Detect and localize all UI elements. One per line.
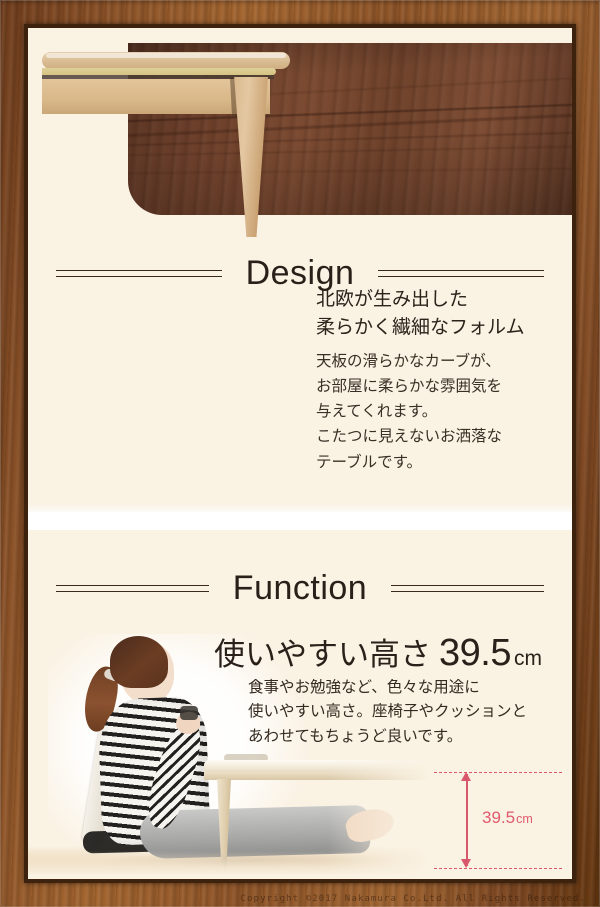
section-white-divider	[28, 512, 572, 530]
copyright-text: Copyright ©2017 Nakamura Co.Ltd. All Rig…	[0, 894, 600, 904]
design-copy-block: 北欧が生み出した 柔らかく繊細なフォルム 天板の滑らかなカーブが、 お部屋に柔ら…	[316, 286, 566, 475]
function-body-text: 食事やお勉強など、色々な用途に 使いやすい高さ。座椅子やクッションと あわせても…	[248, 676, 568, 749]
product-detail-page: 北欧が生み出した 柔らかく繊細なフォルム 天板の滑らかなカーブが、 お部屋に柔ら…	[0, 0, 600, 907]
divider-rule-left	[56, 585, 209, 592]
divider-rule-right	[378, 270, 544, 277]
dimension-guide-bottom	[434, 868, 562, 869]
table-edge-band	[42, 68, 276, 75]
dimension-unit: cm	[516, 812, 533, 826]
dimension-label: 39.5cm	[482, 808, 533, 828]
dimension-value: 39.5	[482, 808, 515, 827]
dimension-arrow-up-icon	[461, 772, 471, 781]
function-section-heading: Function	[28, 571, 572, 605]
height-headline: 使いやすい高さ 39.5 cm	[214, 629, 542, 675]
height-headline-value: 39.5	[439, 632, 511, 675]
held-cup	[180, 706, 198, 720]
design-body-text: 天板の滑らかなカーブが、 お部屋に柔らかな雰囲気を 与えてくれます。 こたつに見…	[316, 349, 566, 475]
height-headline-text: 使いやすい高さ	[214, 629, 431, 674]
height-dimension-annotation: 39.5cm	[426, 772, 572, 879]
content-canvas: 北欧が生み出した 柔らかく繊細なフォルム 天板の滑らかなカーブが、 お部屋に柔ら…	[28, 28, 572, 879]
dimension-guide-top	[434, 772, 562, 773]
person-hair	[110, 636, 168, 688]
design-lead-text: 北欧が生み出した 柔らかく繊細なフォルム	[316, 286, 566, 341]
table-top-highlight	[46, 53, 286, 58]
table-leg	[232, 77, 268, 237]
dimension-arrow-down-icon	[461, 859, 471, 868]
photo-fade-bottom	[28, 851, 448, 879]
function-heading-label: Function	[227, 571, 373, 605]
divider-rule-left	[56, 270, 222, 277]
table-leg-photo	[40, 44, 302, 244]
dimension-arrow-line	[466, 774, 468, 866]
design-section-heading: Design	[28, 256, 572, 290]
divider-rule-right	[391, 585, 544, 592]
design-heading-label: Design	[240, 256, 361, 290]
height-headline-unit: cm	[514, 647, 542, 671]
